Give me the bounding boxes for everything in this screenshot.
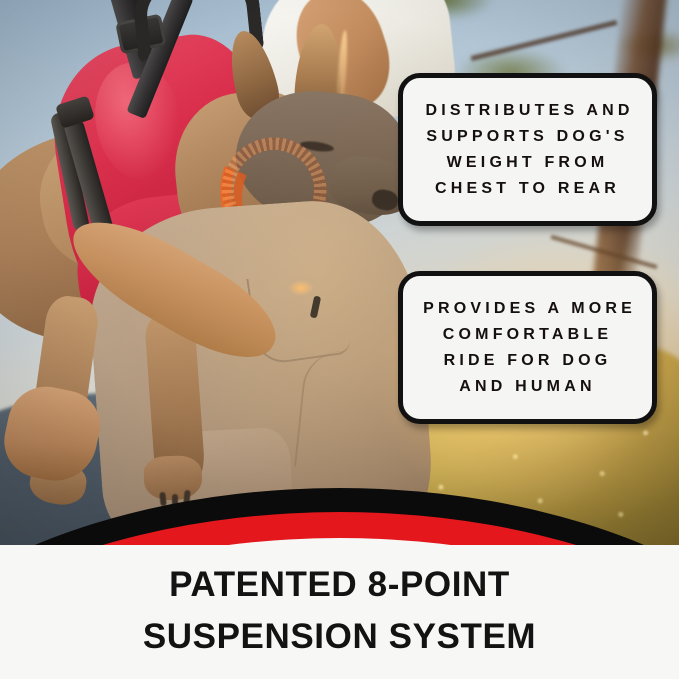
feature-callout-1-text: DISTRIBUTES AND SUPPORTS DOG'S WEIGHT FR… <box>417 98 638 202</box>
pants-light-glint <box>288 280 314 296</box>
dog-claw <box>172 494 178 508</box>
feature-callout-1: DISTRIBUTES AND SUPPORTS DOG'S WEIGHT FR… <box>398 73 657 226</box>
footer-banner: PATENTED 8-POINT SUSPENSION SYSTEM <box>0 545 679 679</box>
product-feature-ad: DISTRIBUTES AND SUPPORTS DOG'S WEIGHT FR… <box>0 0 679 679</box>
feature-callout-2: PROVIDES A MORE COMFORTABLE RIDE FOR DOG… <box>398 271 657 424</box>
headline: PATENTED 8-POINT SUSPENSION SYSTEM <box>0 559 679 663</box>
headline-line-1: PATENTED 8-POINT <box>0 559 679 611</box>
feature-callout-2-text: PROVIDES A MORE COMFORTABLE RIDE FOR DOG… <box>417 296 638 400</box>
headline-line-2: SUSPENSION SYSTEM <box>0 611 679 663</box>
pants-seam <box>294 347 404 477</box>
